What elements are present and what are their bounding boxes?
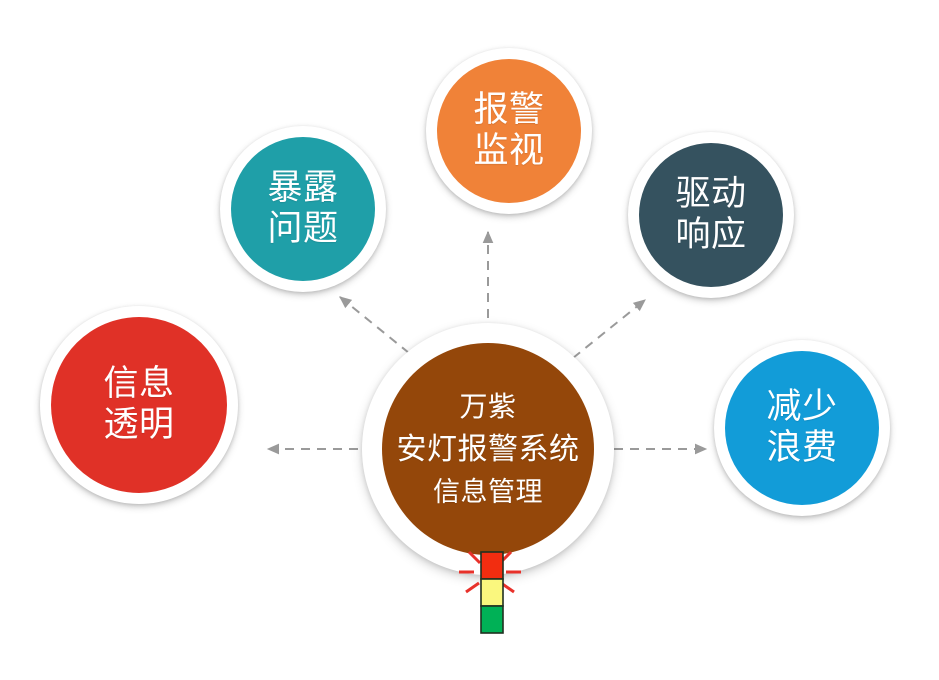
center-node[interactable]: 万紫 安灯报警系统 信息管理 [362,323,614,575]
satellite-node-drive-response[interactable]: 驱动 响应 [628,132,794,298]
drive-response-labels: 驱动 响应 [675,174,746,255]
reduce-waste-labels: 减少 浪费 [766,387,837,468]
reduce-waste-label-line1: 减少 [766,387,837,428]
reduce-waste-label-line2: 浪费 [766,428,837,469]
andon-lamp-stack [481,552,503,633]
information-transparency-label-line1: 信息 [103,364,174,405]
exposure-labels: 暴露 问题 [267,168,338,249]
information-transparency-label-line2: 透明 [103,405,174,446]
information-transparency-labels: 信息 透明 [103,364,174,445]
center-label-line2: 安灯报警系统 [397,428,580,472]
alarm-monitoring-labels: 报警 监视 [473,90,544,171]
center-label-line3: 信息管理 [397,472,580,513]
satellite-node-alarm-monitoring[interactable]: 报警 监视 [426,48,592,214]
andon-stack-light-icon [438,540,542,652]
diagram-canvas: 暴露 问题 报警 监视 驱动 响应 信息 透明 减少 浪费 [0,0,939,680]
exposure-label-line2: 问题 [267,209,338,250]
drive-response-label-line1: 驱动 [675,174,746,215]
exposure-label-line1: 暴露 [267,168,338,209]
satellite-node-information-transparency[interactable]: 信息 透明 [40,306,238,504]
satellite-node-reduce-waste[interactable]: 减少 浪费 [714,340,890,516]
satellite-node-exposure[interactable]: 暴露 问题 [220,126,386,292]
center-label-line1: 万紫 [397,386,580,428]
drive-response-label-line2: 响应 [675,215,746,256]
connector-to-exposure [340,297,409,353]
alarm-monitoring-label-line1: 报警 [473,90,544,131]
andon-lamp-red [481,552,503,579]
andon-lamp-yellow [481,579,503,606]
andon-lamp-green [481,606,503,633]
connector-to-drive-response [573,300,645,358]
alarm-monitoring-label-line2: 监视 [473,131,544,172]
center-labels: 万紫 安灯报警系统 信息管理 [397,386,580,513]
